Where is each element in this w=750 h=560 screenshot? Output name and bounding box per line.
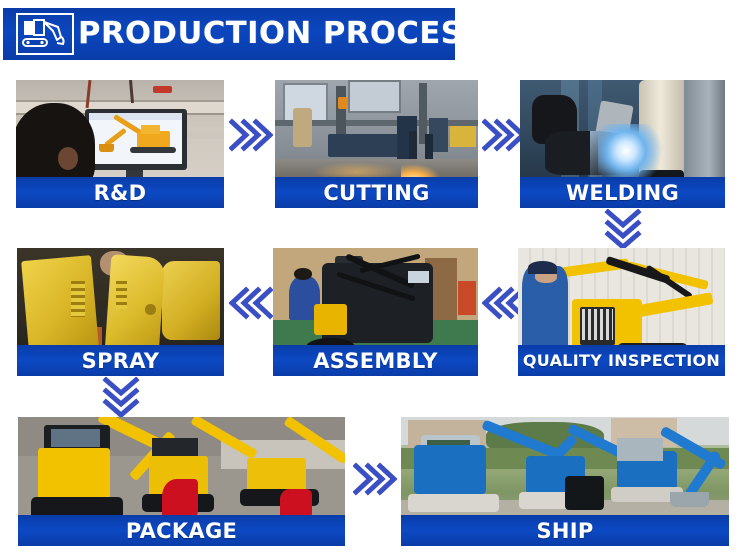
arrow-assembly-to-spray bbox=[228, 283, 274, 323]
step-panel-welding[interactable]: WELDING bbox=[520, 80, 725, 208]
step-panel-assembly[interactable]: ASSEMBLY bbox=[273, 248, 478, 376]
step-panel-ship[interactable]: SHIP bbox=[401, 417, 729, 546]
production-process-infographic: PRODUCTION PROCESS bbox=[0, 0, 750, 560]
step-panel-cutting[interactable]: CUTTING bbox=[275, 80, 478, 208]
step-label-ship: SHIP bbox=[401, 515, 729, 546]
step-label-spray: SPRAY bbox=[17, 345, 224, 376]
step-panel-rd[interactable]: R&D bbox=[16, 80, 224, 208]
step-label-cutting: CUTTING bbox=[275, 177, 478, 208]
step-label-quality-inspection: QUALITY INSPECTION bbox=[518, 345, 725, 376]
step-label-rd: R&D bbox=[16, 177, 224, 208]
excavator-icon bbox=[16, 13, 74, 55]
header-bar: PRODUCTION PROCESS bbox=[3, 8, 455, 60]
step-label-assembly: ASSEMBLY bbox=[273, 345, 478, 376]
step-panel-package[interactable]: PACKAGE bbox=[18, 417, 345, 546]
step-label-welding: WELDING bbox=[520, 177, 725, 208]
page-title: PRODUCTION PROCESS bbox=[78, 19, 485, 49]
arrow-spray-to-package bbox=[97, 376, 145, 418]
arrow-rd-to-cutting bbox=[228, 115, 274, 155]
step-label-package: PACKAGE bbox=[18, 515, 345, 546]
step-panel-quality-inspection[interactable]: QUALITY INSPECTION bbox=[518, 248, 725, 376]
arrow-welding-to-quality bbox=[599, 208, 647, 250]
step-panel-spray[interactable]: SPRAY bbox=[17, 248, 224, 376]
arrow-package-to-ship bbox=[352, 459, 398, 499]
